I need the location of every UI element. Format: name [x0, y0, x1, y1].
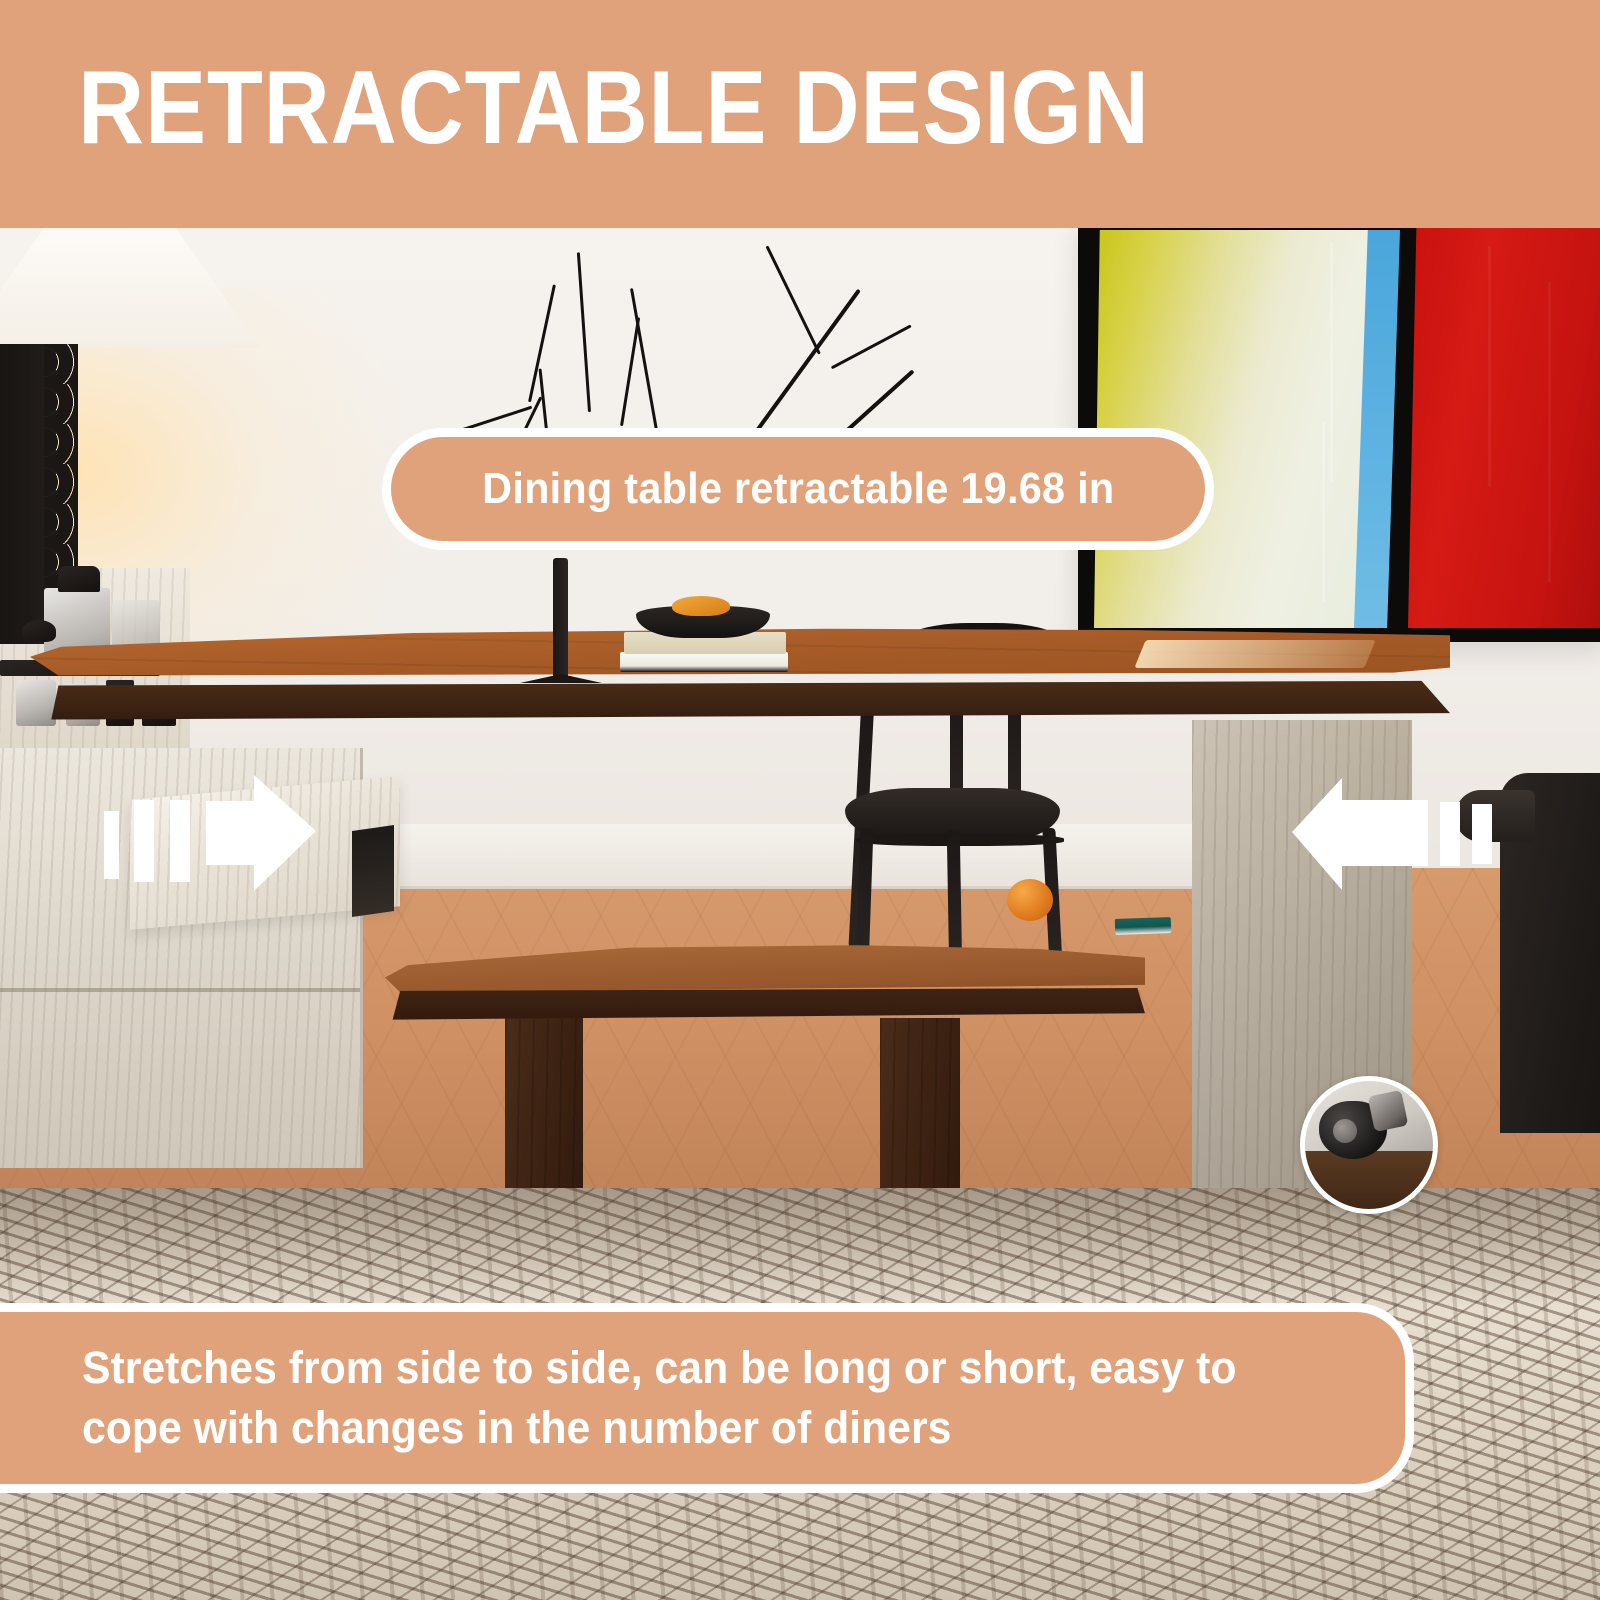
green-book — [1115, 917, 1172, 935]
bowl-fruit — [672, 596, 730, 616]
container-white — [16, 680, 56, 726]
arrow-left-svg — [1292, 778, 1492, 894]
coffee-maker-top — [58, 566, 100, 592]
caster-wheel-zoom-icon — [1300, 1076, 1438, 1214]
arrow-right-svg — [104, 775, 316, 897]
arrow-left-motion-icon — [1292, 778, 1492, 894]
branch-stem — [766, 245, 821, 354]
stacked-books-lower — [620, 652, 788, 672]
art-streak — [1488, 246, 1491, 486]
small-cup — [22, 620, 56, 642]
header-banner: RETRACTABLE DESIGN — [0, 0, 1600, 228]
arrow-right-motion-icon — [104, 775, 316, 897]
art-streak — [1322, 422, 1325, 602]
art-streak — [1548, 282, 1551, 582]
bottom-caption-line-1: Stretches from side to side, can be long… — [82, 1338, 1237, 1398]
orange-fruit — [1007, 879, 1053, 921]
sideboard-appliance-slot — [352, 825, 394, 917]
caster-wheel-stem — [1368, 1090, 1409, 1132]
black-candlestick — [553, 558, 568, 678]
bottom-caption-text: Stretches from side to side, can be long… — [0, 1338, 1294, 1458]
branch-stem — [577, 252, 591, 412]
caster-inset-surface — [1300, 1151, 1438, 1214]
product-feature-image: RETRACTABLE DESIGN Dining table retracta… — [0, 0, 1600, 1600]
table-light-reflection — [1134, 640, 1375, 668]
caster-wheel-hub — [1333, 1119, 1357, 1143]
page-title: RETRACTABLE DESIGN — [78, 56, 1150, 160]
sideboard-drawer-line — [0, 988, 360, 992]
art-panel-red — [1408, 228, 1600, 628]
top-callout-text: Dining table retractable 19.68 in — [482, 464, 1114, 514]
art-streak — [1330, 242, 1333, 482]
bottom-caption-line-2: cope with changes in the number of diner… — [82, 1398, 1237, 1458]
branch-stem — [630, 288, 659, 436]
bottom-caption-pill: Stretches from side to side, can be long… — [0, 1303, 1414, 1493]
top-callout-pill: Dining table retractable 19.68 in — [382, 428, 1214, 550]
branch-stem — [831, 324, 912, 369]
